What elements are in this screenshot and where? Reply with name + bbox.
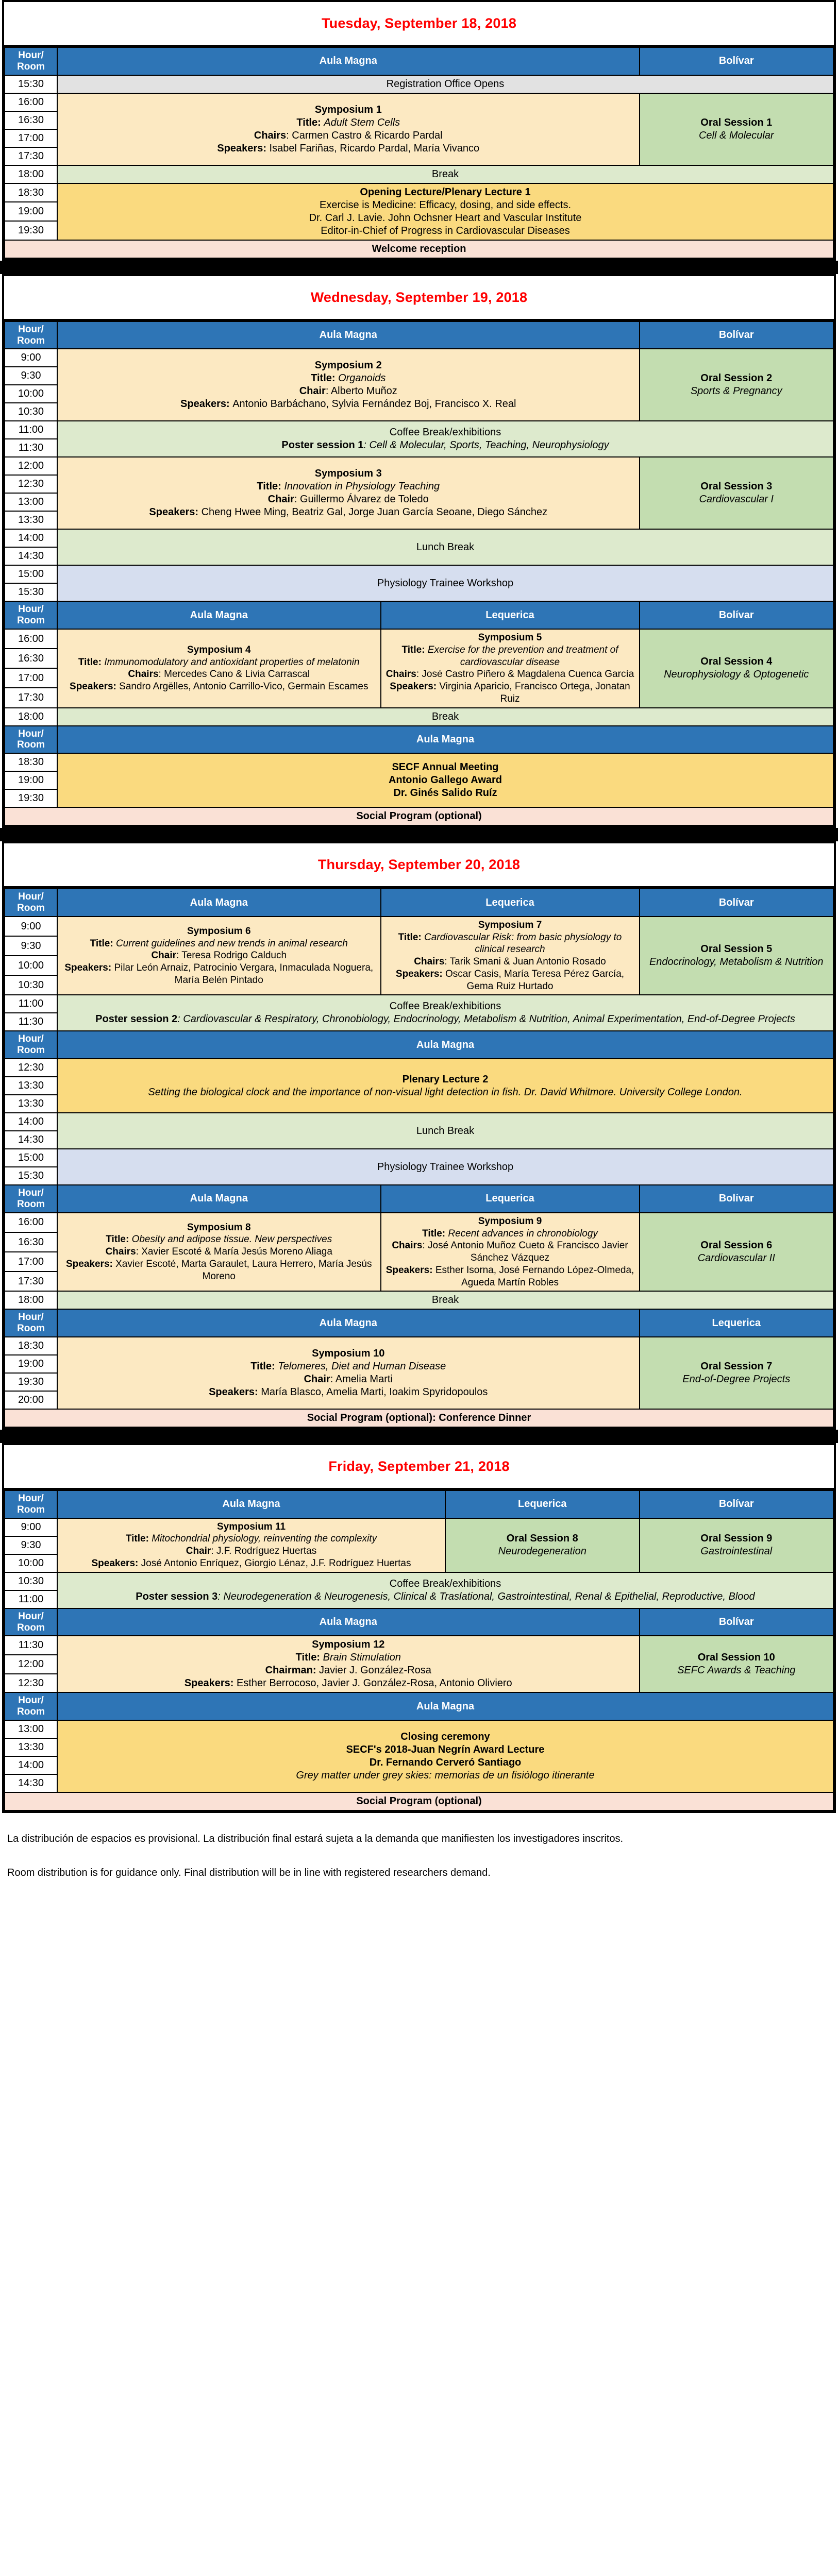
oral-session-content: Oral Session 2Sports & Pregnancy	[643, 372, 830, 398]
oral-session-topic: Cardiovascular I	[643, 493, 830, 506]
speakers-label: Speakers:	[92, 1558, 141, 1569]
symposium-title: Exercise for the prevention and treatmen…	[428, 645, 618, 668]
chair-label: Chair	[299, 385, 326, 397]
symposium-content: Symposium 1Title: Adult Stem CellsChairs…	[61, 104, 636, 155]
symposium-content: Symposium 2Title: OrganoidsChair: Albert…	[61, 359, 636, 411]
room-label: Room	[8, 615, 54, 626]
title-label: Title:	[296, 1652, 323, 1663]
oral-session-topic: End-of-Degree Projects	[643, 1373, 830, 1386]
oral-session-name: Oral Session 8	[449, 1532, 636, 1545]
day-title: Wednesday, September 19, 2018	[4, 276, 834, 321]
plenary-line: Dr. Fernando Cerveró Santiago	[61, 1756, 830, 1769]
schedule-row: 16:00Symposium 8Title: Obesity and adipo…	[5, 1213, 833, 1232]
time-cell: 9:30	[5, 367, 57, 385]
poster-session-label: Poster session 2	[95, 1013, 177, 1025]
time-cell: 9:00	[5, 1518, 57, 1536]
symposium-cell-right: Symposium 7Title: Cardiovascular Risk: f…	[381, 917, 640, 995]
symposium-speakers-line: Speakers: María Blasco, Amelia Marti, Io…	[61, 1386, 636, 1399]
oral-session-cell-1: Oral Session 8Neurodegeneration	[445, 1518, 640, 1572]
social-program-cell: Welcome reception	[5, 240, 833, 258]
chair-label: Chair	[304, 1374, 330, 1385]
plenary-name: Closing ceremony	[61, 1731, 830, 1743]
room-header-lequerica: Lequerica	[381, 601, 640, 629]
coffee-break-text: Coffee Break/exhibitions	[61, 426, 830, 439]
room-label: Room	[8, 1504, 54, 1516]
room-header-aula-magna: Aula Magna	[57, 321, 640, 349]
time-cell: 10:00	[5, 385, 57, 403]
title-label: Title:	[78, 657, 104, 668]
room-header-aula-magna: Aula Magna	[57, 1692, 833, 1720]
day-block-tuesday: Tuesday, September 18, 2018Hour/RoomAula…	[2, 0, 836, 261]
time-cell: 9:30	[5, 936, 57, 956]
symposium-title: Recent advances in chronobiology	[448, 1228, 597, 1239]
schedule-row: 18:30Opening Lecture/Plenary Lecture 1Ex…	[5, 183, 833, 202]
workshop-cell: Physiology Trainee Workshop	[57, 565, 833, 601]
time-cell: 18:30	[5, 753, 57, 771]
symposium-chairs: : José Castro Piñero & Magdalena Cuenca …	[416, 669, 634, 680]
break-cell: Break	[57, 708, 833, 726]
room-label: Room	[8, 903, 54, 914]
schedule-row: Social Program (optional)	[5, 807, 833, 825]
oral-session-name: Oral Session 5	[643, 943, 830, 956]
day-block-wednesday: Wednesday, September 19, 2018Hour/RoomAu…	[2, 274, 836, 828]
oral-session-content: Oral Session 9Gastrointestinal	[643, 1532, 830, 1558]
time-cell: 14:00	[5, 1756, 57, 1774]
schedule-row: 16:00Symposium 4Title: Immunomodulatory …	[5, 629, 833, 649]
chair-label: Chair	[268, 494, 294, 505]
time-cell: 12:00	[5, 1655, 57, 1674]
title-label: Title:	[106, 1234, 131, 1245]
time-cell: 13:30	[5, 1738, 57, 1756]
time-cell: 15:30	[5, 583, 57, 601]
time-cell: 18:30	[5, 183, 57, 202]
symposium-chair-line: Chair: Guillermo Álvarez de Toledo	[61, 493, 636, 506]
symposium-chairs: : Amelia Marti	[330, 1374, 393, 1385]
conference-schedule-page: Tuesday, September 18, 2018Hour/RoomAula…	[0, 0, 838, 1902]
room-header-bol-var: Bolívar	[640, 601, 834, 629]
symposium-chair-line: Chair: Amelia Marti	[61, 1373, 636, 1386]
symposium-chair-line: Chairs: José Antonio Muñoz Cueto & Franc…	[384, 1240, 636, 1264]
hour-room-header: Hour/Room	[5, 1031, 57, 1059]
poster-session-line: Poster session 1: Cell & Molecular, Spor…	[61, 439, 830, 452]
symposium-cell: Symposium 1Title: Adult Stem CellsChairs…	[57, 93, 640, 165]
time-cell: 15:30	[5, 1167, 57, 1185]
chair-label: Chairs	[106, 1246, 136, 1257]
workshop-cell: Physiology Trainee Workshop	[57, 1149, 833, 1185]
plenary-line: Exercise is Medicine: Efficacy, dosing, …	[61, 199, 830, 212]
symposium-speakers-line: Speakers: Virginia Aparicio, Francisco O…	[384, 681, 636, 705]
room-label: Room	[8, 1045, 54, 1056]
symposium-name: Symposium 2	[61, 359, 636, 372]
workshop-text: Physiology Trainee Workshop	[377, 578, 513, 589]
time-cell: 17:00	[5, 668, 57, 688]
time-cell: 10:30	[5, 1572, 57, 1590]
time-cell: 10:00	[5, 1554, 57, 1572]
day-schedule-table-friday: Hour/RoomAula MagnaLequericaBolívar9:00S…	[4, 1490, 834, 1811]
time-cell: 16:30	[5, 111, 57, 129]
symposium-title-line: Title: Cardiovascular Risk: from basic p…	[384, 931, 636, 956]
symposium-speakers: Sandro Argëlles, Antonio Carrillo-Vico, …	[119, 681, 368, 692]
symposium-title-line: Title: Obesity and adipose tissue. New p…	[61, 1233, 377, 1246]
title-label: Title:	[398, 932, 424, 943]
plenary-line: Antonio Gallego Award	[61, 774, 830, 787]
break-text: Lunch Break	[416, 541, 474, 553]
symposium-content: Symposium 8Title: Obesity and adipose ti…	[61, 1222, 377, 1283]
symposium-cell-left: Symposium 6Title: Current guidelines and…	[57, 917, 381, 995]
symposium-title: Adult Stem Cells	[324, 117, 400, 128]
coffee-break-poster-cell: Coffee Break/exhibitionsPoster session 1…	[57, 421, 833, 457]
speakers-label: Speakers:	[390, 681, 439, 692]
hour-label: Hour/	[8, 324, 54, 335]
room-header-row: Hour/RoomAula MagnaBolívar	[5, 321, 833, 349]
time-cell: 13:30	[5, 511, 57, 529]
symposium-name: Symposium 6	[61, 925, 377, 938]
symposium-title-line: Title: Innovation in Physiology Teaching	[61, 480, 636, 493]
oral-session-name: Oral Session 7	[643, 1360, 830, 1373]
room-header-bol-var: Bolívar	[640, 47, 834, 75]
room-header-row: Hour/RoomAula MagnaLequericaBolívar	[5, 601, 833, 629]
symposium-content: Symposium 6Title: Current guidelines and…	[61, 925, 377, 987]
time-cell: 9:00	[5, 349, 57, 367]
break-cell: Break	[57, 1291, 833, 1309]
room-header-aula-magna: Aula Magna	[57, 1608, 640, 1636]
room-header-row: Hour/RoomAula MagnaLequericaBolívar	[5, 889, 833, 917]
symposium-chair-line: Chairs: José Castro Piñero & Magdalena C…	[384, 668, 636, 681]
oral-session-topic: Neurodegeneration	[449, 1545, 636, 1558]
break-cell: Lunch Break	[57, 529, 833, 565]
symposium-content: Symposium 3Title: Innovation in Physiolo…	[61, 467, 636, 519]
symposium-chairs: : Alberto Muñoz	[326, 385, 397, 397]
speakers-label: Speakers:	[70, 681, 119, 692]
room-header-bol-var: Bolívar	[640, 1490, 834, 1518]
symposium-cell: Symposium 10Title: Telomeres, Diet and H…	[57, 1337, 640, 1409]
room-header-bol-var: Bolívar	[640, 1185, 834, 1213]
symposium-name: Symposium 1	[61, 104, 636, 116]
hour-room-header: Hour/Room	[5, 601, 57, 629]
room-header-row: Hour/RoomAula MagnaLequericaBolívar	[5, 1185, 833, 1213]
social-program-text: Social Program (optional)	[356, 1795, 481, 1807]
time-cell: 16:00	[5, 93, 57, 111]
chair-label: Chairs	[254, 130, 286, 141]
symposium-name: Symposium 12	[61, 1638, 636, 1651]
oral-session-cell: Oral Session 6Cardiovascular II	[640, 1213, 834, 1292]
symposium-speakers-line: Speakers: Xavier Escoté, Marta Garaulet,…	[61, 1258, 377, 1283]
schedule-row: 18:30Symposium 10Title: Telomeres, Diet …	[5, 1337, 833, 1355]
oral-session-topic: Cell & Molecular	[643, 129, 830, 142]
time-cell: 11:00	[5, 421, 57, 439]
oral-session-content: Oral Session 6Cardiovascular II	[643, 1239, 830, 1265]
hour-room-header: Hour/Room	[5, 1490, 57, 1518]
symposium-cell-left: Symposium 4Title: Immunomodulatory and a…	[57, 629, 381, 708]
speakers-label: Speakers:	[209, 1386, 261, 1398]
plenary-cell: Plenary Lecture 2Setting the biological …	[57, 1059, 833, 1113]
oral-session-topic: Endocrinology, Metabolism & Nutrition	[643, 956, 830, 969]
speakers-label: Speakers:	[180, 398, 232, 410]
symposium-chair-line: Chairs: Mercedes Cano & Livia Carrascal	[61, 668, 377, 681]
time-cell: 19:30	[5, 789, 57, 807]
time-cell: 18:30	[5, 1337, 57, 1355]
oral-session-name: Oral Session 6	[643, 1239, 830, 1252]
oral-session-content: Oral Session 4Neurophysiology & Optogene…	[643, 655, 830, 681]
schedule-row: 10:30Coffee Break/exhibitionsPoster sess…	[5, 1572, 833, 1590]
social-program-cell: Social Program (optional)	[5, 807, 833, 825]
oral-session-name: Oral Session 2	[643, 372, 830, 385]
poster-session-line: Poster session 3: Neurodegeneration & Ne…	[61, 1590, 830, 1603]
symposium-content: Symposium 5Title: Exercise for the preve…	[384, 632, 636, 705]
room-label: Room	[8, 61, 54, 73]
time-cell: 14:30	[5, 1774, 57, 1792]
day-schedule-table-wednesday: Hour/RoomAula MagnaBolívar9:00Symposium …	[4, 321, 834, 826]
symposium-title: Organoids	[338, 372, 386, 384]
speakers-label: Speakers:	[386, 1265, 435, 1276]
hour-room-header: Hour/Room	[5, 47, 57, 75]
symposium-speakers: Antonio Barbáchano, Sylvia Fernández Boj…	[232, 398, 516, 410]
hour-room-header: Hour/Room	[5, 726, 57, 754]
workshop-text: Physiology Trainee Workshop	[377, 1161, 513, 1173]
social-program-cell: Social Program (optional)	[5, 1792, 833, 1810]
room-label: Room	[8, 335, 54, 347]
symposium-chairs: : Carmen Castro & Ricardo Pardal	[286, 130, 442, 141]
speakers-label: Speakers:	[64, 962, 114, 973]
coffee-break-poster-cell: Coffee Break/exhibitionsPoster session 3…	[57, 1572, 833, 1608]
symposium-name: Symposium 9	[384, 1215, 636, 1228]
time-cell: 14:00	[5, 529, 57, 547]
social-program-text: Welcome reception	[372, 243, 466, 255]
time-cell: 10:00	[5, 956, 57, 975]
symposium-title: Telomeres, Diet and Human Disease	[278, 1361, 446, 1372]
schedule-row: 14:00Lunch Break	[5, 1113, 833, 1131]
symposium-cell: Symposium 2Title: OrganoidsChair: Albert…	[57, 349, 640, 421]
schedule-row: 12:30Plenary Lecture 2Setting the biolog…	[5, 1059, 833, 1077]
oral-session-content: Oral Session 7End-of-Degree Projects	[643, 1360, 830, 1386]
oral-session-cell: Oral Session 5Endocrinology, Metabolism …	[640, 917, 834, 995]
time-cell: 17:00	[5, 129, 57, 147]
room-header-lequerica: Lequerica	[381, 889, 640, 917]
hour-room-header: Hour/Room	[5, 1309, 57, 1337]
plenary-line: Grey matter under grey skies: memorias d…	[61, 1769, 830, 1782]
break-text: Break	[432, 168, 459, 180]
room-header-lequerica: Lequerica	[445, 1490, 640, 1518]
poster-session-topics: : Cell & Molecular, Sports, Teaching, Ne…	[363, 439, 609, 451]
room-header-row: Hour/RoomAula MagnaBolívar	[5, 1608, 833, 1636]
room-header-bol-var: Bolívar	[640, 1608, 834, 1636]
symposium-speakers: María Blasco, Amelia Marti, Ioakim Spyri…	[261, 1386, 488, 1398]
room-label: Room	[8, 1199, 54, 1210]
room-label: Room	[8, 1706, 54, 1718]
time-cell: 19:30	[5, 1373, 57, 1391]
coffee-break-text: Coffee Break/exhibitions	[61, 1578, 830, 1590]
time-cell: 14:00	[5, 1113, 57, 1131]
schedule-row: 11:00Coffee Break/exhibitionsPoster sess…	[5, 995, 833, 1013]
room-header-aula-magna: Aula Magna	[57, 726, 833, 754]
hour-label: Hour/	[8, 728, 54, 740]
symposium-speakers: Virginia Aparicio, Francisco Ortega, Jon…	[439, 681, 630, 704]
room-label: Room	[8, 1622, 54, 1634]
oral-session-content: Oral Session 8Neurodegeneration	[449, 1532, 636, 1558]
schedule-row: 18:00Break	[5, 165, 833, 183]
room-header-aula-magna: Aula Magna	[57, 1309, 640, 1337]
title-label: Title:	[126, 1533, 152, 1544]
speakers-label: Speakers:	[396, 969, 445, 979]
time-cell: 17:00	[5, 1252, 57, 1272]
symposium-speakers: Pilar León Arnaiz, Patrocinio Vergara, I…	[114, 962, 373, 986]
symposium-name: Symposium 5	[384, 632, 636, 644]
hour-room-header: Hour/Room	[5, 1608, 57, 1636]
hour-room-header: Hour/Room	[5, 321, 57, 349]
chair-label: Chair	[186, 1546, 211, 1556]
hour-label: Hour/	[8, 50, 54, 61]
break-text: Break	[432, 1294, 459, 1306]
symposium-content: Symposium 12Title: Brain StimulationChai…	[61, 1638, 636, 1690]
schedule-row: 18:30SECF Annual MeetingAntonio Gallego …	[5, 753, 833, 771]
oral-session-name: Oral Session 1	[643, 116, 830, 129]
day-separator	[0, 261, 838, 274]
symposium-content: Symposium 10Title: Telomeres, Diet and H…	[61, 1347, 636, 1399]
symposium-name: Symposium 10	[61, 1347, 636, 1360]
hour-room-header: Hour/Room	[5, 1185, 57, 1213]
oral-session-topic: SEFC Awards & Teaching	[643, 1664, 830, 1677]
social-program-text: Social Program (optional)	[356, 810, 481, 822]
oral-session-name: Oral Session 9	[643, 1532, 830, 1545]
oral-session-cell: Oral Session 7End-of-Degree Projects	[640, 1337, 834, 1409]
symposium-content: Symposium 7Title: Cardiovascular Risk: f…	[384, 919, 636, 993]
time-cell: 16:00	[5, 1213, 57, 1232]
symposium-chair-line: Chair: Teresa Rodrigo Calduch	[61, 950, 377, 962]
symposium-chair-line: Chair: Alberto Muñoz	[61, 385, 636, 398]
time-cell: 14:30	[5, 1131, 57, 1149]
title-label: Title:	[402, 645, 428, 655]
day-block-friday: Friday, September 21, 2018Hour/RoomAula …	[2, 1443, 836, 1813]
hour-label: Hour/	[8, 1188, 54, 1199]
day-block-thursday: Thursday, September 20, 2018Hour/RoomAul…	[2, 841, 836, 1430]
time-cell: 19:00	[5, 771, 57, 789]
schedule-row: 9:00Symposium 2Title: OrganoidsChair: Al…	[5, 349, 833, 367]
time-cell: 11:30	[5, 1636, 57, 1655]
symposium-title-line: Title: Telomeres, Diet and Human Disease	[61, 1360, 636, 1373]
symposium-chairs: Javier J. González-Rosa	[316, 1665, 431, 1676]
break-cell: Break	[57, 165, 833, 183]
symposium-chair-line: Chairs: Carmen Castro & Ricardo Pardal	[61, 129, 636, 142]
time-cell: 13:00	[5, 1720, 57, 1738]
day-schedule-table-thursday: Hour/RoomAula MagnaLequericaBolívar9:00S…	[4, 888, 834, 1428]
oral-session-content: Oral Session 3Cardiovascular I	[643, 480, 830, 506]
symposium-speakers: Esther Berrocoso, Javier J. González-Ros…	[237, 1677, 512, 1689]
speakers-label: Speakers:	[149, 506, 201, 518]
social-program-cell: Social Program (optional): Conference Di…	[5, 1409, 833, 1427]
symposium-title-line: Title: Brain Stimulation	[61, 1651, 636, 1664]
title-label: Title:	[311, 372, 338, 384]
time-cell: 18:00	[5, 708, 57, 726]
time-cell: 15:00	[5, 1149, 57, 1167]
symposium-chair-line: Chairs: Xavier Escoté & María Jesús More…	[61, 1246, 377, 1258]
time-cell: 16:00	[5, 629, 57, 649]
symposium-speakers-line: Speakers: Oscar Casis, María Teresa Pére…	[384, 968, 636, 993]
poster-session-line: Poster session 2: Cardiovascular & Respi…	[61, 1013, 830, 1026]
symposium-title-line: Title: Adult Stem Cells	[61, 116, 636, 129]
footer-notes: La distribución de espacios es provision…	[0, 1813, 838, 1902]
symposium-chairs: : Mercedes Cano & Livia Carrascal	[159, 669, 310, 680]
oral-session-cell: Oral Session 1Cell & Molecular	[640, 93, 834, 165]
symposium-speakers: Isabel Fariñas, Ricardo Pardal, María Vi…	[270, 143, 480, 154]
speakers-label: Speakers:	[66, 1259, 115, 1269]
room-header-bol-var: Bolívar	[640, 321, 834, 349]
title-label: Title:	[250, 1361, 278, 1372]
plenary-line: Dr. Carl J. Lavie. John Ochsner Heart an…	[61, 212, 830, 225]
room-header-aula-magna: Aula Magna	[57, 601, 381, 629]
break-text: Break	[432, 711, 459, 722]
day-separator	[0, 1430, 838, 1443]
plenary-line: Dr. Ginés Salido Ruíz	[61, 787, 830, 800]
time-cell: 19:00	[5, 1355, 57, 1373]
oral-session-name: Oral Session 4	[643, 655, 830, 668]
room-header-aula-magna: Aula Magna	[57, 889, 381, 917]
symposium-content: Symposium 9Title: Recent advances in chr…	[384, 1215, 636, 1289]
symposium-cell-right: Symposium 5Title: Exercise for the preve…	[381, 629, 640, 708]
room-header-row: Hour/RoomAula MagnaLequericaBolívar	[5, 1490, 833, 1518]
hour-label: Hour/	[8, 1312, 54, 1323]
hour-label: Hour/	[8, 891, 54, 903]
speakers-label: Speakers:	[217, 143, 269, 154]
symposium-speakers-line: Speakers: Sandro Argëlles, Antonio Carri…	[61, 681, 377, 693]
symposium-chairs: : Teresa Rodrigo Calduch	[176, 950, 287, 961]
speakers-label: Speakers:	[185, 1677, 237, 1689]
plenary-name: Plenary Lecture 2	[61, 1073, 830, 1086]
schedule-row: 11:30Symposium 12Title: Brain Stimulatio…	[5, 1636, 833, 1655]
oral-session-topic: Neurophysiology & Optogenetic	[643, 668, 830, 681]
symposium-title: Cardiovascular Risk: from basic physiolo…	[424, 932, 622, 955]
symposium-cell-left: Symposium 8Title: Obesity and adipose ti…	[57, 1213, 381, 1292]
social-program-text: Social Program (optional): Conference Di…	[307, 1412, 531, 1423]
time-cell: 11:30	[5, 1013, 57, 1031]
schedule-row: 13:00Closing ceremonySECF's 2018-Juan Ne…	[5, 1720, 833, 1738]
title-label: Title:	[296, 117, 324, 128]
time-cell: 11:30	[5, 439, 57, 457]
time-cell: 14:30	[5, 547, 57, 565]
registration-cell: Registration Office Opens	[57, 75, 833, 93]
symposium-chair-line: Chair: J.F. Rodríguez Huertas	[61, 1545, 442, 1557]
symposium-speakers-line: Speakers: Pilar León Arnaiz, Patrocinio …	[61, 962, 377, 987]
symposium-speakers: Xavier Escoté, Marta Garaulet, Laura Her…	[115, 1259, 372, 1282]
oral-session-content: Oral Session 5Endocrinology, Metabolism …	[643, 943, 830, 969]
schedule-row: Welcome reception	[5, 240, 833, 258]
symposium-speakers: Esther Isorna, José Fernando López-Olmed…	[435, 1265, 634, 1288]
schedule-row: 15:00Physiology Trainee Workshop	[5, 565, 833, 583]
room-header-lequerica: Lequerica	[381, 1185, 640, 1213]
symposium-title: Innovation in Physiology Teaching	[284, 481, 440, 492]
chair-label: Chairs	[392, 1240, 422, 1251]
coffee-break-poster-cell: Coffee Break/exhibitionsPoster session 2…	[57, 995, 833, 1031]
schedule-row: 15:00Physiology Trainee Workshop	[5, 1149, 833, 1167]
room-header-row: Hour/RoomAula MagnaLequerica	[5, 1309, 833, 1337]
time-cell: 10:30	[5, 403, 57, 421]
hour-label: Hour/	[8, 1493, 54, 1504]
hour-label: Hour/	[8, 1611, 54, 1622]
room-label: Room	[8, 1323, 54, 1334]
days-container: Tuesday, September 18, 2018Hour/RoomAula…	[0, 0, 838, 1813]
symposium-name: Symposium 11	[61, 1521, 442, 1533]
time-cell: 20:00	[5, 1391, 57, 1409]
room-header-aula-magna: Aula Magna	[57, 47, 640, 75]
time-cell: 10:30	[5, 975, 57, 995]
break-text: Lunch Break	[416, 1125, 474, 1137]
chair-label: Chair	[151, 950, 176, 961]
room-header-row: Hour/RoomAula Magna	[5, 1031, 833, 1059]
room-header-aula-magna: Aula Magna	[57, 1185, 381, 1213]
hour-room-header: Hour/Room	[5, 1692, 57, 1720]
day-title: Thursday, September 20, 2018	[4, 843, 834, 888]
symposium-speakers-line: Speakers: Cheng Hwee Ming, Beatriz Gal, …	[61, 506, 636, 519]
time-cell: 13:30	[5, 1077, 57, 1095]
